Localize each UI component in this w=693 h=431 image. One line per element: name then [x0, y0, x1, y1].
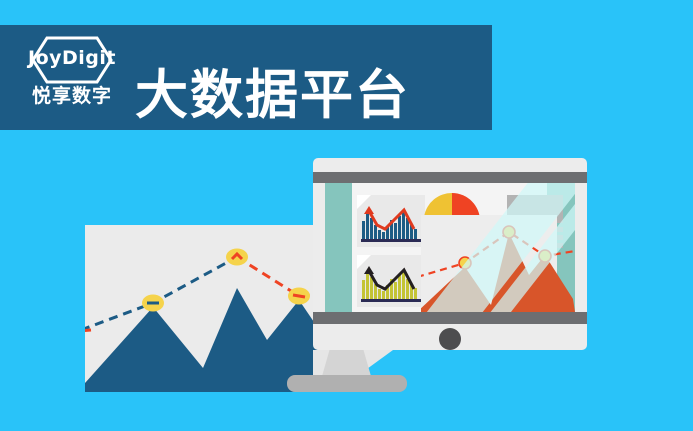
monitor-stand-base: [287, 375, 407, 392]
marker-tick: [293, 295, 305, 297]
arrow-up-icon: [364, 266, 374, 274]
logo: JoyDigit 悦享数字: [16, 33, 128, 125]
monitor-bottom-bar: [313, 312, 587, 324]
dashed-line-red-lead: [85, 330, 91, 331]
monitor-top-bar: [313, 172, 587, 183]
logo-subtitle: 悦享数字: [16, 81, 128, 108]
mini-bar-chart-olive[interactable]: [357, 255, 425, 307]
mountain-chart-svg: [85, 200, 335, 392]
logo-wordmark: JoyDigit: [16, 47, 128, 69]
screen-side-band-left: [325, 183, 352, 312]
mini-bar-chart-blue[interactable]: [357, 195, 425, 247]
arrow-up-icon: [364, 206, 374, 214]
data-marker: [226, 249, 248, 266]
mini-bar-chart-olive-svg: [361, 261, 421, 303]
page-title: 大数据平台: [135, 69, 410, 122]
header-banner: JoyDigit 悦享数字 大数据平台: [0, 25, 492, 130]
poster-canvas: JoyDigit 悦享数字 大数据平台: [0, 0, 693, 431]
desktop-monitor: [313, 158, 587, 350]
monitor-camera-dot: [439, 328, 461, 350]
monitor-stand-neck: [322, 350, 372, 378]
monitor-screen: [325, 183, 575, 312]
mini-bar-chart-blue-svg: [361, 201, 421, 243]
